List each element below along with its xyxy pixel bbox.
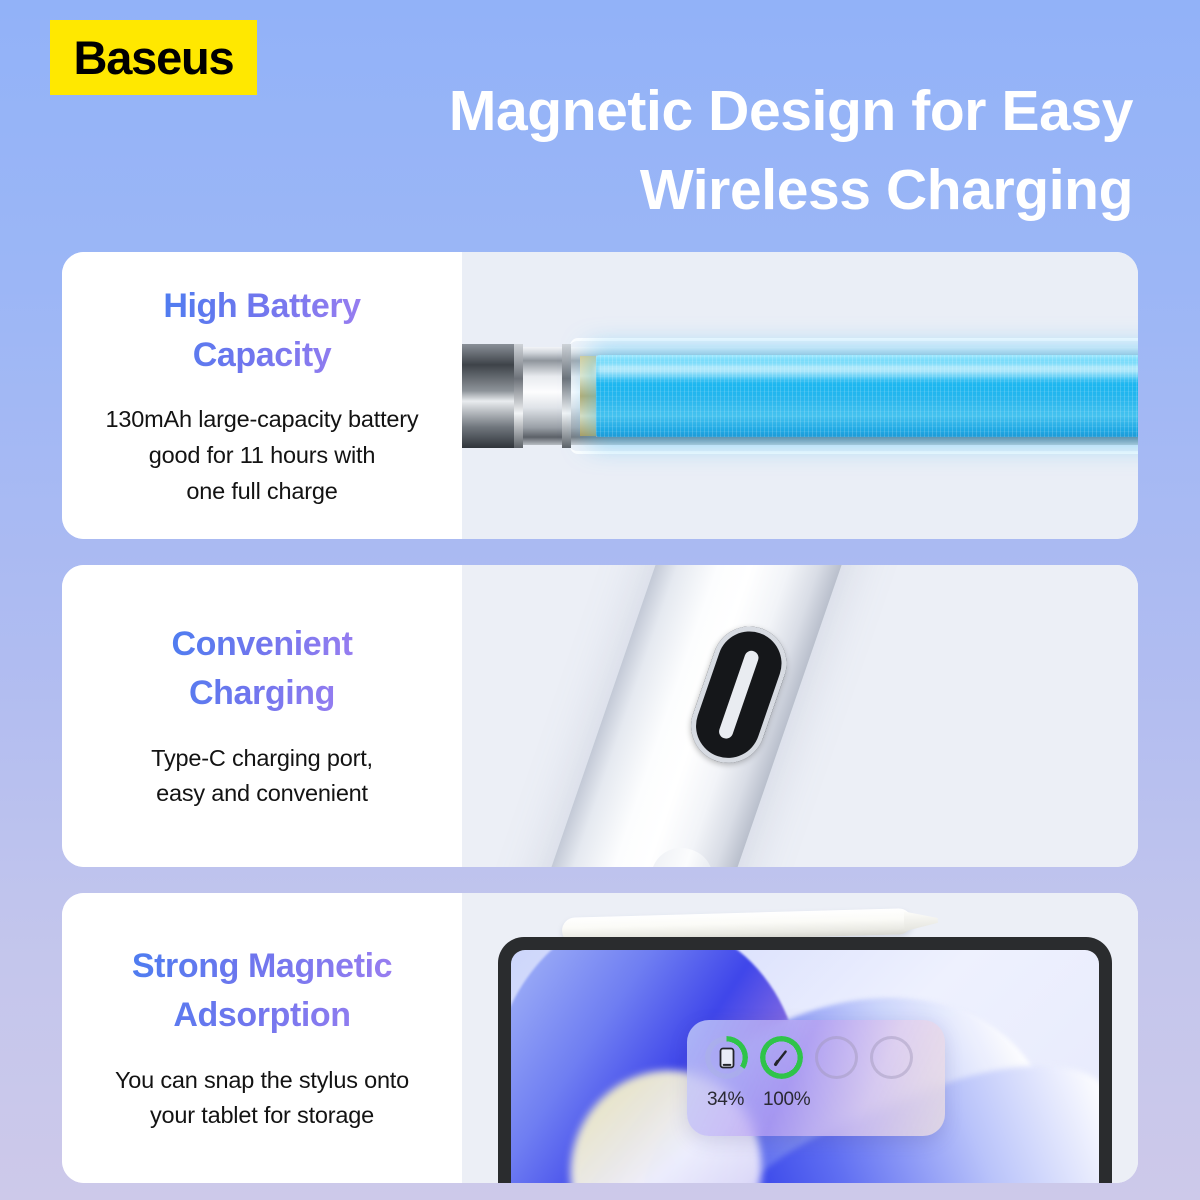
battery-ring-empty-2 xyxy=(870,1036,913,1079)
feature-card-charging-body: Type-C charging port, easy and convenien… xyxy=(151,741,373,812)
battery-percent-tablet: 34% xyxy=(707,1089,753,1111)
brand-logo-text: Baseus xyxy=(73,34,233,81)
body-line-2: good for 11 hours with xyxy=(106,438,419,474)
body-line-1: Type-C charging port, xyxy=(151,741,373,777)
battery-ring-stylus xyxy=(760,1036,803,1079)
battery-ring-tablet xyxy=(705,1036,748,1079)
battery-percent-row: 34% 100% xyxy=(687,1089,945,1111)
stylus-icon xyxy=(772,1048,792,1068)
feature-card-charging: Convenient Charging Type-C charging port… xyxy=(62,565,1138,867)
stylus-body: Ba xyxy=(503,565,878,867)
body-line-1: You can snap the stylus onto xyxy=(115,1063,409,1099)
title-line-2: Adsorption xyxy=(132,991,392,1040)
feature-card-magnetic: Strong Magnetic Adsorption You can snap … xyxy=(62,893,1138,1183)
body-line-2: your tablet for storage xyxy=(115,1098,409,1134)
title-line-2: Charging xyxy=(171,669,352,718)
headline-line-1: Magnetic Design for Easy xyxy=(373,72,1133,151)
brand-logo: Baseus xyxy=(50,20,257,95)
tablet-scene: 34% 100% xyxy=(462,893,1138,1183)
stylus-end-cap xyxy=(462,344,514,448)
title-line-1: High Battery xyxy=(163,282,360,331)
tablet-icon xyxy=(719,1047,734,1068)
stylus-usbc-port-image: Ba xyxy=(462,565,1138,867)
feature-card-battery-title: High Battery Capacity xyxy=(163,282,360,381)
tablet-with-stylus-image: 34% 100% xyxy=(462,893,1138,1183)
feature-card-battery: High Battery Capacity 130mAh large-capac… xyxy=(62,252,1138,539)
feature-card-magnetic-text: Strong Magnetic Adsorption You can snap … xyxy=(62,893,462,1183)
tablet-device: 34% 100% xyxy=(498,937,1112,1183)
battery-status-widget[interactable]: 34% 100% xyxy=(687,1020,945,1136)
stylus-metal-ring-1 xyxy=(514,344,523,448)
stylus-side-button xyxy=(614,840,721,867)
tablet-screen: 34% 100% xyxy=(511,950,1099,1183)
stylus-battery-cutaway-image xyxy=(462,252,1138,539)
title-line-1: Convenient xyxy=(171,620,352,669)
body-line-2: easy and convenient xyxy=(151,776,373,812)
usb-c-port xyxy=(681,616,797,772)
page-headline: Magnetic Design for Easy Wireless Chargi… xyxy=(373,72,1133,229)
battery-percent-stylus: 100% xyxy=(763,1089,809,1111)
headline-line-2: Wireless Charging xyxy=(373,151,1133,230)
battery-ring-arc-empty-2 xyxy=(870,1036,913,1079)
body-line-3: one full charge xyxy=(106,474,419,510)
battery-ring-arc-empty-1 xyxy=(815,1036,858,1079)
battery-ring-row xyxy=(687,1036,945,1079)
title-line-1: Strong Magnetic xyxy=(132,942,392,991)
feature-card-battery-text: High Battery Capacity 130mAh large-capac… xyxy=(62,252,462,539)
feature-card-charging-text: Convenient Charging Type-C charging port… xyxy=(62,565,462,867)
stylus-photo-backdrop: Ba xyxy=(462,565,1138,867)
stylus-metal-ring-2 xyxy=(562,344,571,448)
body-line-1: 130mAh large-capacity battery xyxy=(106,402,419,438)
feature-card-charging-title: Convenient Charging xyxy=(171,620,352,719)
feature-card-magnetic-body: You can snap the stylus onto your tablet… xyxy=(115,1063,409,1134)
usb-c-tongue xyxy=(717,649,760,741)
stylus-gold-contact-ring xyxy=(580,356,596,436)
battery-cell-highlight xyxy=(596,365,1138,383)
feature-card-magnetic-title: Strong Magnetic Adsorption xyxy=(132,942,392,1041)
feature-card-battery-body: 130mAh large-capacity battery good for 1… xyxy=(106,402,419,509)
title-line-2: Capacity xyxy=(163,331,360,380)
battery-ring-empty-1 xyxy=(815,1036,858,1079)
